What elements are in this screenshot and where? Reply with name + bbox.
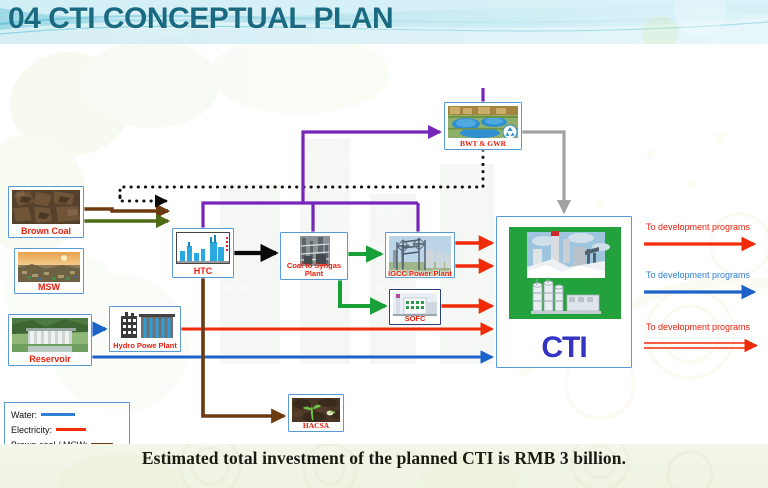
node-hydro-power-plant[interactable]: Hydro Powe Plant — [109, 306, 181, 352]
node-igcc-power-plant[interactable]: IGCC Power Plant — [385, 232, 455, 278]
node-msw-label: MSW — [15, 283, 83, 292]
edge-syngas-to-sofc — [340, 280, 385, 306]
legend-item-water: Water: — [11, 407, 124, 422]
node-igcc-power-plant-label: IGCC Power Plant — [386, 270, 454, 278]
node-coal-to-syngas-plant-label: Coal to Syngas Plant — [281, 262, 347, 278]
node-cti-label: CTI — [497, 331, 631, 365]
node-bwt-gwr-label: BWT & GWR — [445, 140, 521, 148]
cti-image-panel — [509, 227, 621, 319]
output-label-3: To development programs — [646, 322, 750, 332]
bwt-gwr-image — [448, 106, 518, 138]
output-label-2: To development programs — [646, 270, 750, 280]
slide-root: 04 CTI CONCEPTUAL PLAN — [0, 0, 768, 488]
legend-label-water: Water: — [11, 410, 37, 420]
node-reservoir[interactable]: Reservoir — [8, 314, 92, 366]
node-hydro-power-plant-label: Hydro Powe Plant — [110, 342, 180, 350]
node-reservoir-label: Reservoir — [9, 355, 91, 364]
node-msw[interactable]: MSW — [14, 248, 84, 294]
reservoir-image — [12, 318, 88, 352]
hydro-power-plant-image — [113, 310, 177, 340]
edge-htc-to-hacsa — [203, 278, 284, 416]
sofc-image — [393, 293, 437, 316]
node-bwt-gwr[interactable]: BWT & GWR — [444, 102, 522, 150]
node-sofc[interactable]: SOFC — [389, 289, 441, 325]
edge-igcc-to-cti-electricity — [455, 243, 492, 266]
legend-label-electricity: Electricity: — [11, 425, 52, 435]
edge-bwtgwr-greywater-to-cti — [522, 132, 564, 212]
node-hacsa-label: HACSA — [289, 422, 343, 430]
edge-cti-output-3 — [644, 343, 756, 348]
node-brown-coal[interactable]: Brown Coal — [8, 186, 84, 238]
htc-image — [176, 232, 230, 264]
node-coal-to-syngas-plant[interactable]: Coal to Syngas Plant — [280, 232, 348, 280]
legend-swatch-water — [41, 413, 75, 416]
tagline-text: Estimated total investment of the planne… — [0, 448, 768, 469]
page-title: 04 CTI CONCEPTUAL PLAN — [8, 2, 393, 36]
diagram-canvas: Brown Coal MSW — [0, 44, 768, 444]
brown-coal-image — [12, 190, 80, 224]
edge-browncoal-to-htc — [84, 209, 168, 211]
edge-blackwater-bus-to-bwtgwr — [203, 88, 483, 232]
node-htc-label: HTC — [173, 267, 233, 276]
legend-panel: Water: Electricity: Brown coal / MSW: Co… — [4, 402, 130, 444]
hacsa-image — [292, 398, 340, 422]
msw-image — [18, 252, 80, 282]
legend-item-electricity: Electricity: — [11, 422, 124, 437]
node-cti[interactable]: CTI — [496, 216, 632, 368]
node-hacsa[interactable]: HACSA — [288, 394, 344, 432]
node-htc[interactable]: HTC — [172, 228, 234, 278]
legend-swatch-electricity — [56, 428, 86, 431]
slide-header: 04 CTI CONCEPTUAL PLAN — [0, 0, 768, 44]
node-brown-coal-label: Brown Coal — [9, 227, 83, 236]
legend-item-brown-coal-msw: Brown coal / MSW: — [11, 437, 124, 444]
connector-layer — [0, 44, 768, 444]
node-sofc-label: SOFC — [390, 315, 440, 323]
output-label-1: To development programs — [646, 222, 750, 232]
